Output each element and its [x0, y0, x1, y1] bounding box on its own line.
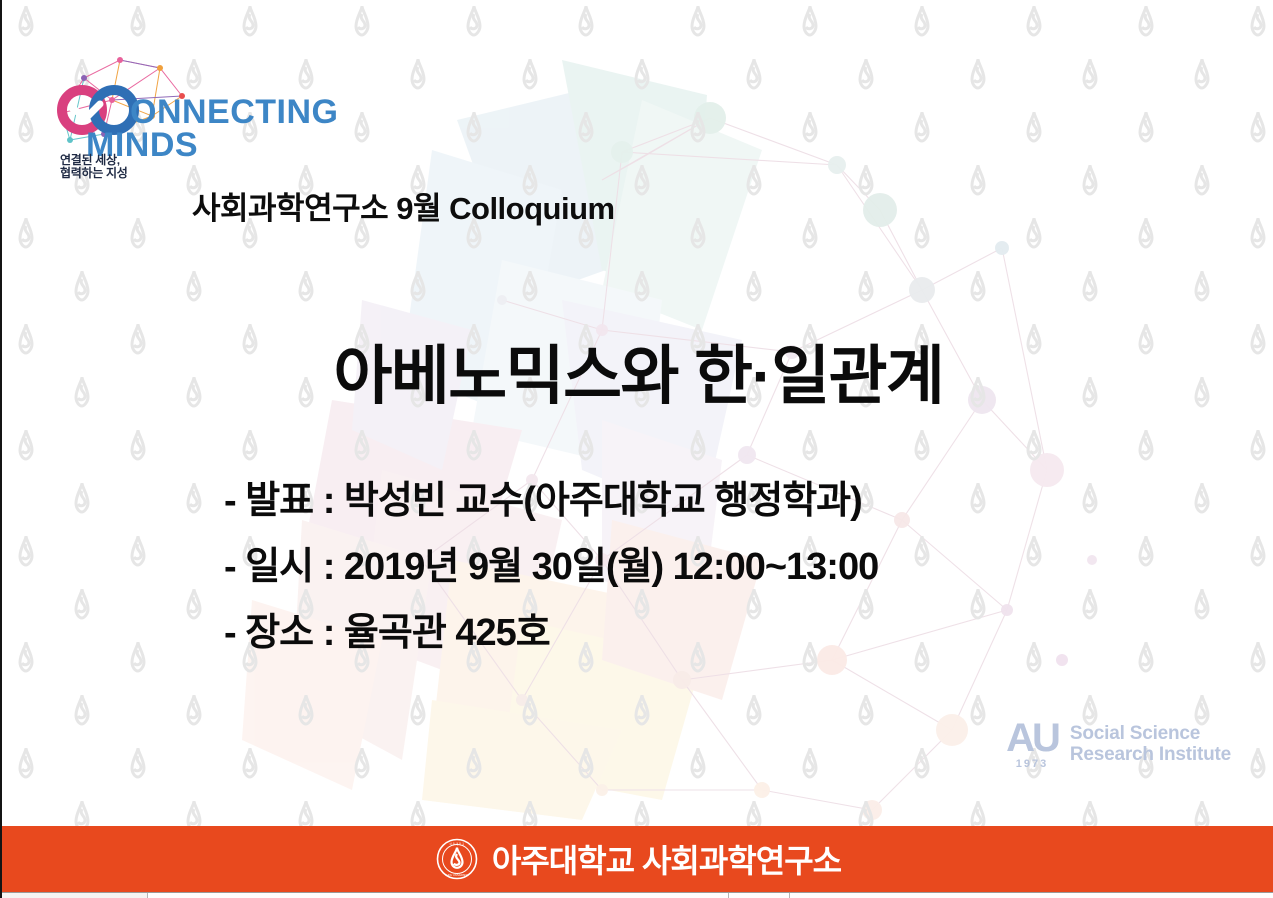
detail-datetime: - 일시 : 2019년 9월 30일(월) 12:00~13:00	[224, 548, 878, 588]
strip-cell	[2, 893, 148, 898]
svg-text:AJOU UNIVERSITY: AJOU UNIVERSITY	[445, 873, 468, 877]
footer-title: 아주대학교 사회과학연구소	[492, 836, 841, 882]
footer-bar: 아 주 대 학 교 AJOU UNIVERSITY 아주대학교 사회과학연구소	[2, 826, 1273, 892]
strip-cell	[790, 893, 1273, 898]
event-detail-list: - 발표 : 박성빈 교수(아주대학교 행정학과) - 일시 : 2019년 9…	[224, 482, 878, 654]
colloquium-eyebrow: 사회과학연구소 9월 Colloquium	[192, 183, 615, 228]
strip-cell	[148, 893, 729, 898]
detail-location: - 장소 : 율곡관 425호	[224, 614, 878, 654]
detail-speaker: - 발표 : 박성빈 교수(아주대학교 행정학과)	[224, 482, 878, 522]
strip-cell	[729, 893, 790, 898]
colloquium-poster: ONNECTING MINDS 연결된 세상, 협력하는 지성 사회과학연구소 …	[0, 0, 1273, 898]
poster-content: 사회과학연구소 9월 Colloquium 아베노믹스와 한·일관계 - 발표 …	[2, 0, 1273, 898]
bottom-chrome-strip	[2, 892, 1273, 898]
ajou-university-seal: 아 주 대 학 교 AJOU UNIVERSITY	[436, 838, 478, 880]
svg-text:아 주 대 학 교: 아 주 대 학 교	[449, 842, 464, 846]
page-title: 아베노믹스와 한·일관계	[2, 325, 1273, 417]
